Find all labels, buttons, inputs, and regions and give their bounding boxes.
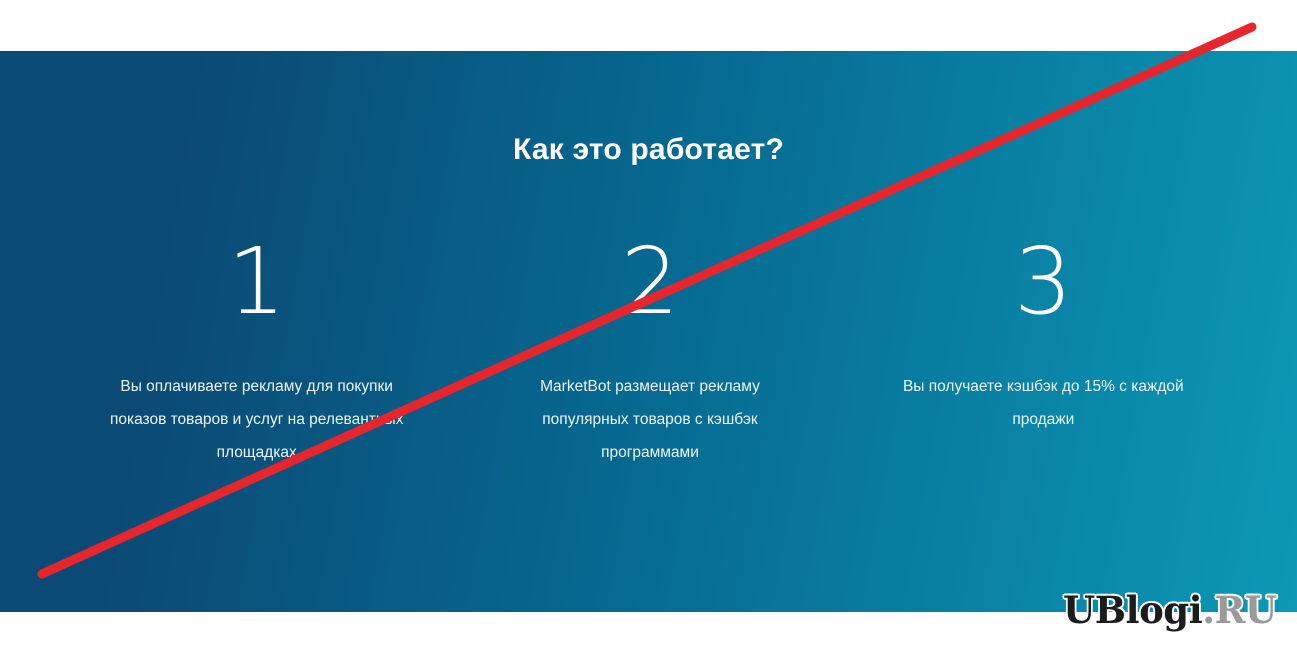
step-number-3: 3 [1014, 236, 1073, 340]
page-title: Как это работает? [0, 133, 1297, 167]
step-description-3: Вы получаете кэшбэк до 15% с каждой прод… [878, 370, 1208, 436]
slide-screenshot: Как это работает? 1 Вы оплачиваете рекла… [0, 0, 1297, 650]
top-white-band [0, 0, 1297, 51]
step-description-2: MarketBot размещает рекламу популярных т… [500, 370, 800, 469]
step-number-1: 1 [227, 236, 286, 340]
watermark: UBlogi.RU [1063, 592, 1277, 629]
step-number-2: 2 [621, 236, 680, 340]
watermark-tld: .RU [1202, 588, 1276, 632]
step-item-3: 3 Вы получаете кэшбэк до 15% с каждой пр… [847, 236, 1240, 436]
step-item-2: 2 MarketBot размещает рекламу популярных… [453, 236, 846, 469]
step-description-1: Вы оплачиваете рекламу для покупки показ… [104, 370, 409, 469]
watermark-site-name: UBlogi [1063, 588, 1202, 632]
steps-row: 1 Вы оплачиваете рекламу для покупки пок… [60, 236, 1240, 469]
step-item-1: 1 Вы оплачиваете рекламу для покупки пок… [60, 236, 453, 469]
